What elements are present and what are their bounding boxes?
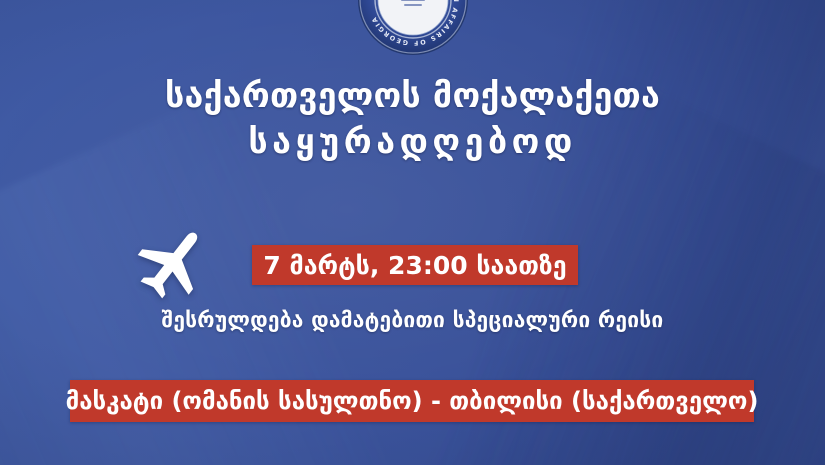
route-banner-text: მასკატი (ომანის სასულთნო) - თბილისი (საქ… bbox=[66, 387, 759, 415]
title-line-1: საქართველოს მოქალაქეთა bbox=[0, 74, 825, 118]
title-line-2: საყურადღებოდ bbox=[0, 118, 825, 166]
date-banner: 7 მარტს, 23:00 საათზე bbox=[252, 245, 578, 285]
ministry-seal-icon: MINISTRY OF FOREIGN AFFAIRS OF GEORGIA bbox=[357, 0, 469, 56]
route-banner: მასკატი (ომანის სასულთნო) - თბილისი (საქ… bbox=[70, 380, 754, 422]
poster-title: საქართველოს მოქალაქეთა საყურადღებოდ bbox=[0, 74, 825, 166]
announcement-poster: MINISTRY OF FOREIGN AFFAIRS OF GEORGIA ს… bbox=[0, 0, 825, 465]
date-banner-text: 7 მარტს, 23:00 საათზე bbox=[263, 251, 566, 280]
flight-description: შესრულდება დამატებითი სპეციალური რეისი bbox=[0, 308, 825, 332]
airplane-icon bbox=[124, 218, 220, 314]
